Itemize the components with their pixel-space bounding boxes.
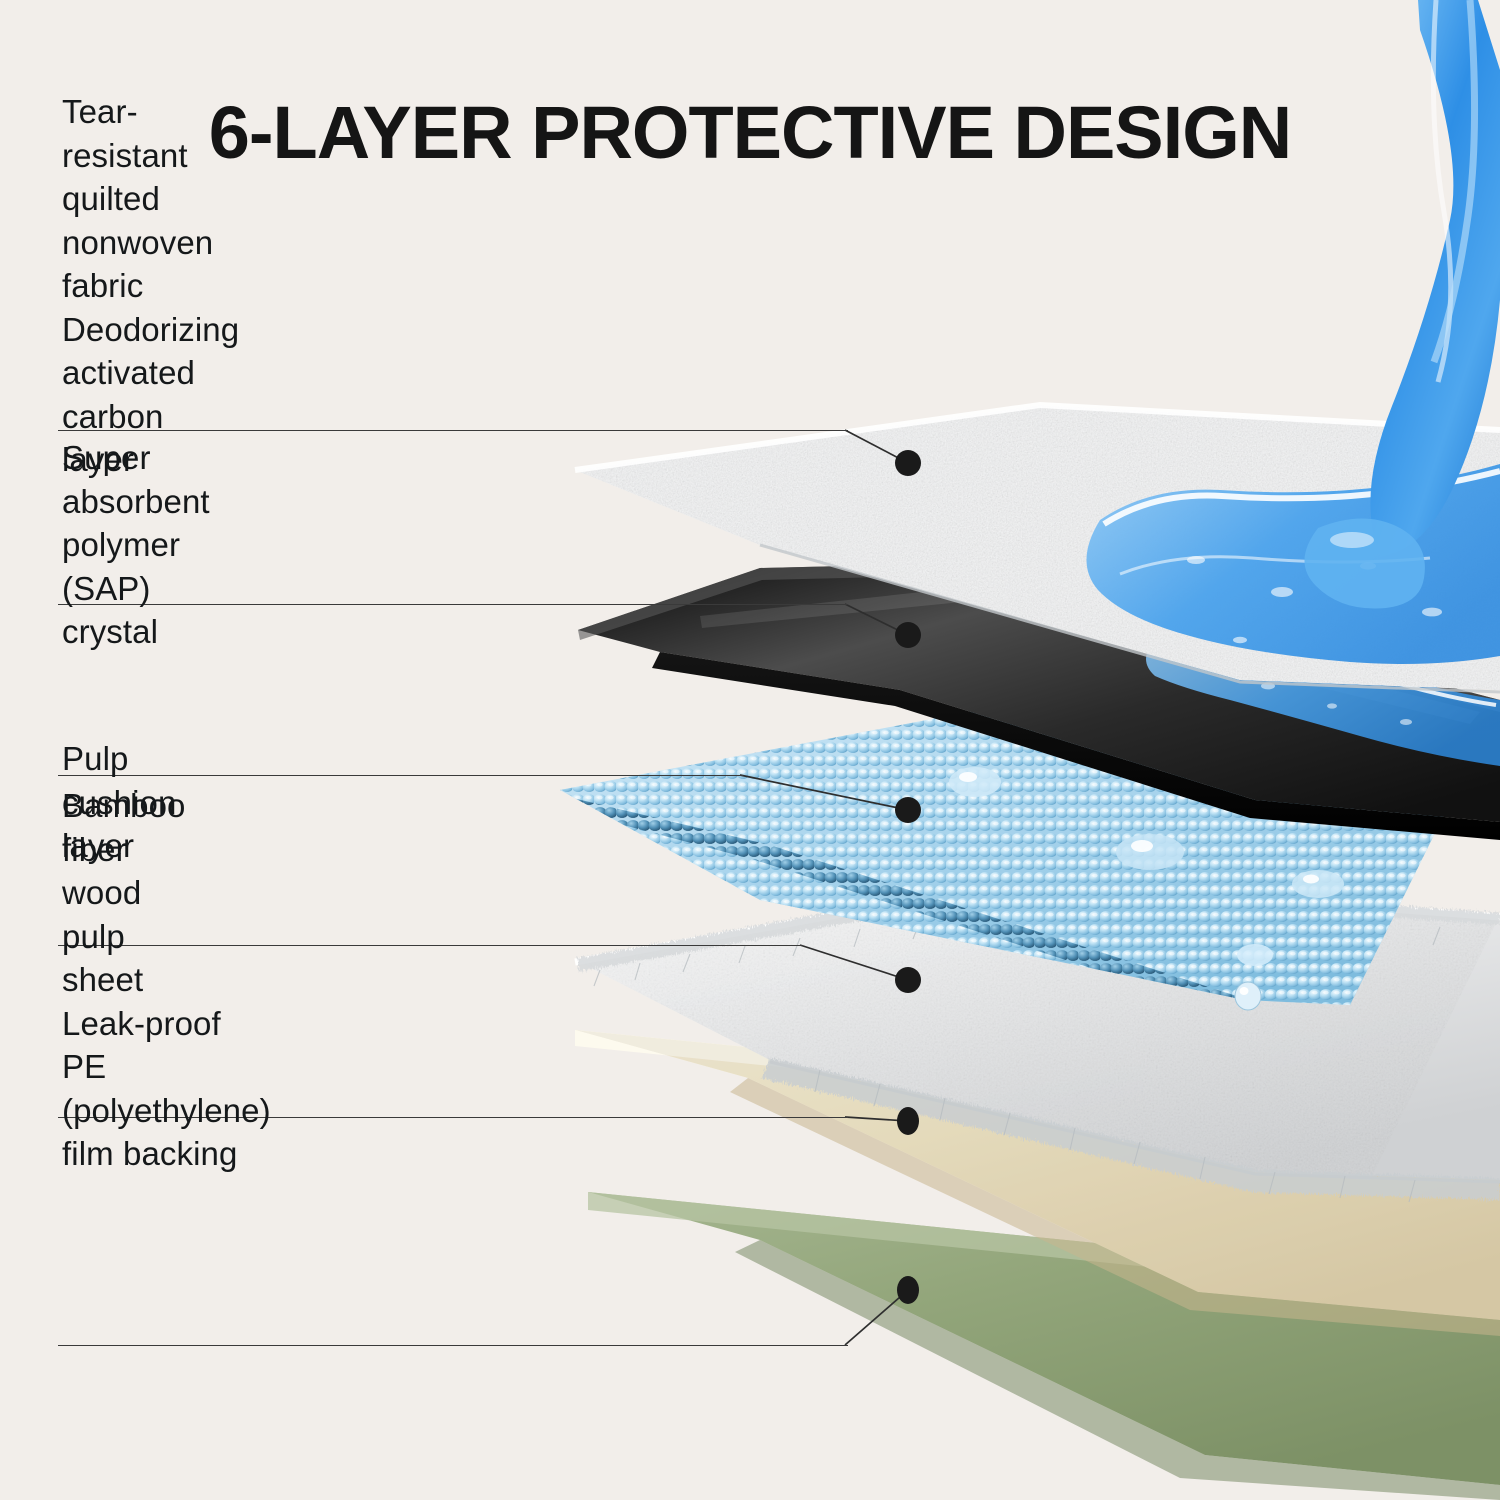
exploded-layer-stack xyxy=(0,0,1500,1500)
page-title: 6-LAYER PROTECTIVE DESIGN xyxy=(0,96,1500,170)
layer-label-6: Leak-proof PE (polyethylene) film backin… xyxy=(62,1002,271,1176)
callout-rule-6 xyxy=(58,1345,848,1346)
layer-label-1: Tear-resistant quilted nonwoven fabric xyxy=(62,90,213,308)
layer-label-5: Bamboo fiber wood pulp sheet xyxy=(62,784,186,1002)
infographic-stage: 6-LAYER PROTECTIVE DESIGN Tear-resistant… xyxy=(0,0,1500,1500)
layer-label-3: Super absorbent polymer (SAP) crystal xyxy=(62,436,210,654)
